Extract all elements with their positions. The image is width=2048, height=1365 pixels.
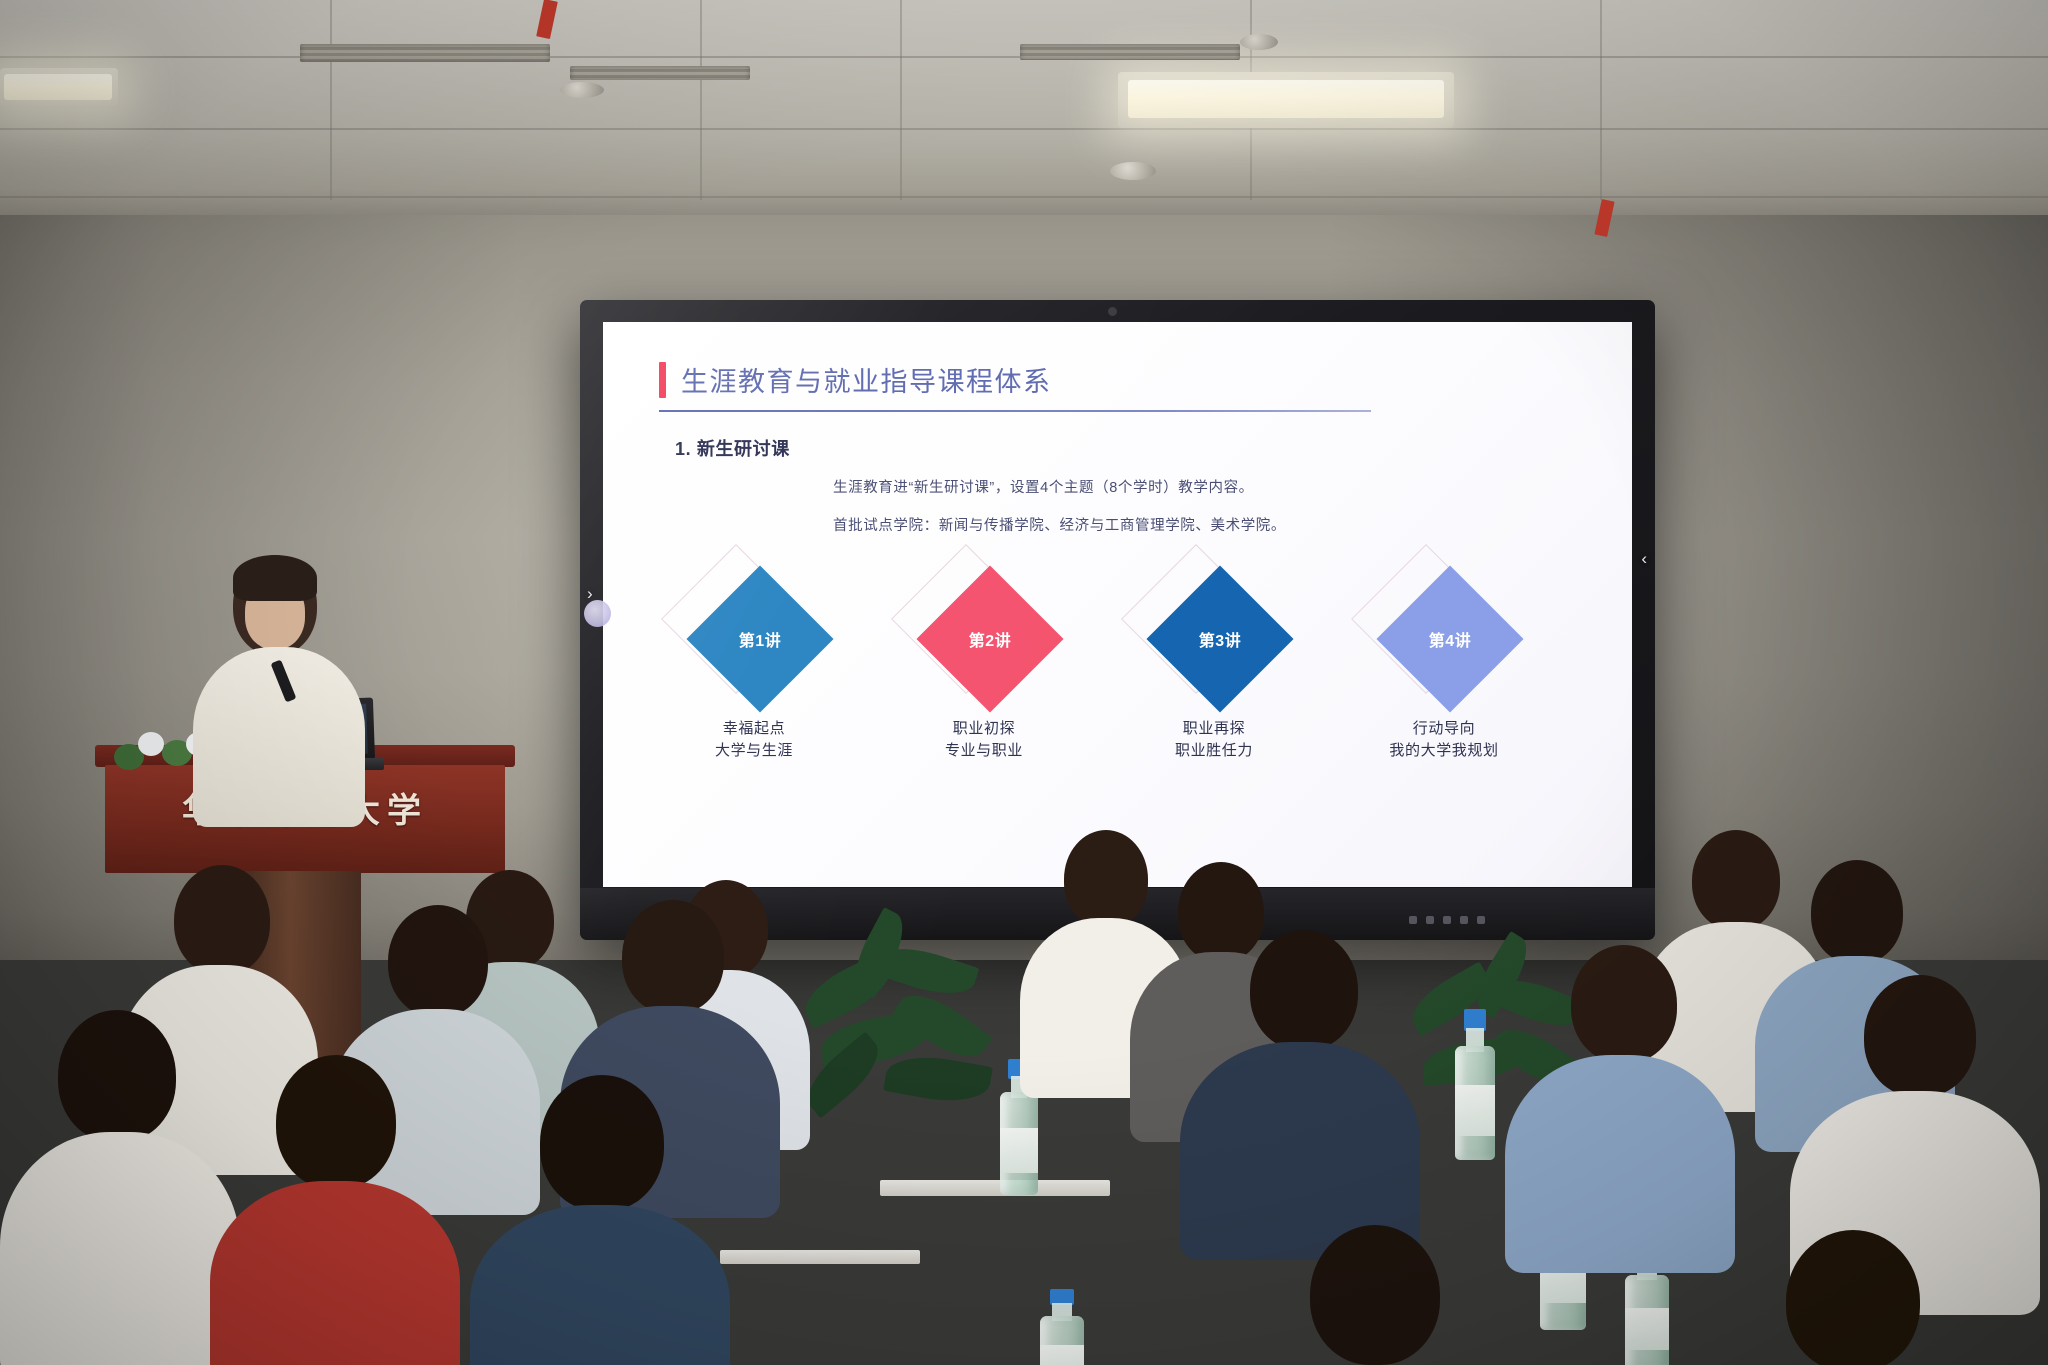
air-vent <box>300 44 550 62</box>
smoke-detector <box>1110 162 1156 180</box>
ceiling-speaker <box>560 82 604 98</box>
course-steps-diagram: 第1讲 幸福起点 大学与生涯 第2讲 <box>661 562 1577 802</box>
step-badge-label: 第1讲 <box>708 587 812 691</box>
chevron-left-icon[interactable]: ‹ <box>1641 550 1647 567</box>
course-step: 第1讲 幸福起点 大学与生涯 <box>661 562 847 762</box>
board-display-screen[interactable]: 生涯教育与就业指导课程体系 1. 新生研讨课 生涯教育进“新生研讨课”，设置4个… <box>603 322 1632 887</box>
step-caption-line-1: 职业初探 <box>891 718 1077 740</box>
ceiling-seam-vertical <box>700 0 702 200</box>
step-caption-line-2: 我的大学我规划 <box>1351 740 1537 762</box>
water-bottle <box>1040 1290 1084 1365</box>
ceiling-seam-vertical <box>900 0 902 200</box>
step-caption-line-1: 行动导向 <box>1351 718 1537 740</box>
board-side-knob[interactable] <box>584 600 611 627</box>
lecture-room-scene: 生涯教育与就业指导课程体系 1. 新生研讨课 生涯教育进“新生研讨课”，设置4个… <box>0 0 2048 1365</box>
audience-table <box>880 1180 1110 1196</box>
air-vent <box>570 66 750 80</box>
audience-member <box>1180 930 1420 1250</box>
board-camera-icon <box>1108 307 1117 316</box>
course-step: 第4讲 行动导向 我的大学我规划 <box>1351 562 1537 762</box>
smoke-detector <box>1240 34 1278 50</box>
title-underline <box>659 410 1371 412</box>
ceiling-light <box>1128 80 1444 118</box>
presenter-speaker <box>185 555 375 825</box>
section-heading: 1. 新生研讨课 <box>675 435 790 461</box>
board-dot[interactable] <box>1426 916 1434 924</box>
slide-paragraph-2: 首批试点学院：新闻与传播学院、经济与工商管理学院、美术学院。 <box>833 514 1286 535</box>
board-dot[interactable] <box>1443 916 1451 924</box>
water-bottle <box>1455 1010 1495 1160</box>
ceiling-light <box>4 74 112 100</box>
audience-member-front <box>1230 1225 1520 1365</box>
board-dot[interactable] <box>1477 916 1485 924</box>
slide-title: 生涯教育与就业指导课程体系 <box>681 360 1052 399</box>
step-badge-label: 第3讲 <box>1168 587 1272 691</box>
step-caption-line-2: 专业与职业 <box>891 740 1077 762</box>
step-caption-line-2: 职业胜任力 <box>1121 740 1307 762</box>
audience-member-front <box>1700 1230 2000 1365</box>
step-caption-line-1: 职业再探 <box>1121 718 1307 740</box>
course-step: 第3讲 职业再探 职业胜任力 <box>1121 562 1307 762</box>
step-caption-line-2: 大学与生涯 <box>661 740 847 762</box>
slide-title-row: 生涯教育与就业指导课程体系 <box>659 360 1052 399</box>
slide-paragraph-1: 生涯教育进“新生研讨课”，设置4个主题（8个学时）教学内容。 <box>833 476 1254 497</box>
step-caption-line-1: 幸福起点 <box>661 718 847 740</box>
title-accent-bar <box>659 362 666 398</box>
ceiling <box>0 0 2048 215</box>
step-badge-label: 第2讲 <box>938 587 1042 691</box>
step-badge-label: 第4讲 <box>1398 587 1502 691</box>
air-vent <box>1020 44 1240 60</box>
ceiling-seam-vertical <box>330 0 332 200</box>
board-dot[interactable] <box>1409 916 1417 924</box>
chevron-right-icon[interactable]: › <box>587 585 593 602</box>
course-step: 第2讲 职业初探 专业与职业 <box>891 562 1077 762</box>
audience-member-front <box>470 1075 730 1365</box>
audience-member-front <box>210 1055 460 1365</box>
audience-member-front <box>0 1010 240 1365</box>
audience-member <box>1505 945 1735 1265</box>
ceiling-seam <box>0 196 2048 198</box>
audience-table <box>720 1250 920 1264</box>
presentation-slide: 生涯教育与就业指导课程体系 1. 新生研讨课 生涯教育进“新生研讨课”，设置4个… <box>603 322 1632 887</box>
potted-plant-left <box>790 930 1010 1150</box>
ceiling-seam-vertical <box>1600 0 1602 200</box>
board-control-dots[interactable] <box>1409 916 1485 924</box>
ceiling-seam <box>0 128 2048 130</box>
board-dot[interactable] <box>1460 916 1468 924</box>
